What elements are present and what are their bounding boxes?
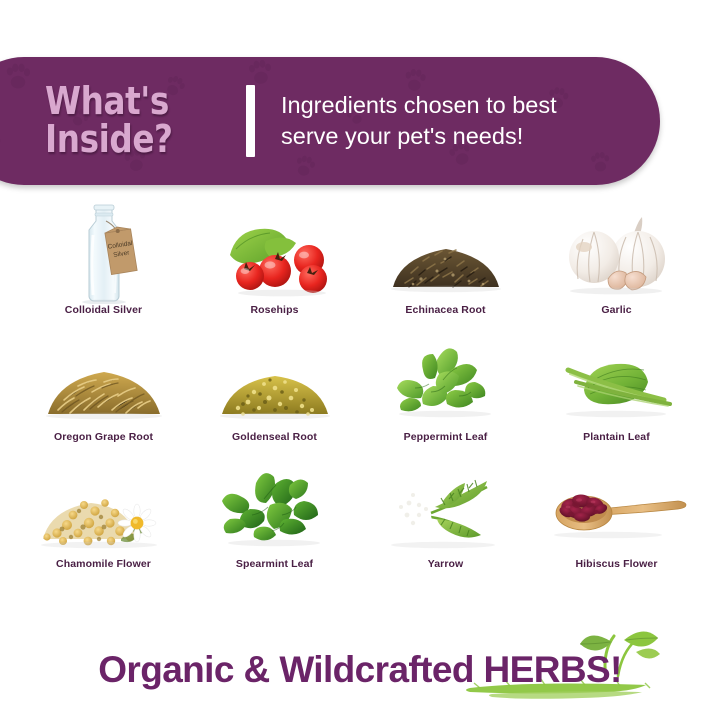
ingredient-item-garlic: Garlic [531,196,702,323]
ingredient-label: Spearmint Leaf [236,558,313,570]
ingredient-label: Echinacea Root [405,304,485,316]
rosehips-icon [189,203,360,304]
ingredient-item-yarrow: Yarrow [360,450,531,577]
ingredient-label: Oregon Grape Root [54,431,153,443]
ingredient-label: Garlic [601,304,631,316]
footer-logo: Organic & Wildcrafted HERBS! [0,626,720,712]
garlic-bulbs-icon [531,203,702,304]
ingredient-label: Peppermint Leaf [404,431,488,443]
infographic-page: What's Inside? Ingredients chosen to bes… [0,0,720,720]
ingredient-label: Rosehips [250,304,298,316]
ingredient-item-hibiscus-flower: Hibiscus Flower [531,450,702,577]
header-banner: What's Inside? Ingredients chosen to bes… [0,57,660,185]
ingredient-item-chamomile-flower: Chamomile Flower [18,450,189,577]
ingredient-item-oregon-grape-root: Oregon Grape Root [18,323,189,450]
ingredient-label: Yarrow [428,558,464,570]
ingredient-label: Hibiscus Flower [575,558,657,570]
banner-heading-line1: What's [45,83,213,121]
ingredient-label: Chamomile Flower [56,558,151,570]
banner-heading-line2: Inside? [45,121,213,159]
spearmint-bunch-icon [189,457,360,558]
banner-tagline: Ingredients chosen to best serve your pe… [281,90,557,152]
banner-tagline-line1: Ingredients chosen to best [281,90,557,121]
ingredient-item-rosehips: Rosehips [189,196,360,323]
yarrow-flower-icon [360,457,531,558]
banner-divider [246,85,255,157]
oregon-grape-root-pile-icon [18,330,189,431]
footer-text: Organic & Wildcrafted HERBS! [98,649,622,690]
colloidal-silver-bottle-icon: Colloidal Silver [18,203,189,304]
ingredient-label: Colloidal Silver [65,304,142,316]
banner-tagline-line2: serve your pet's needs! [281,121,557,152]
ingredient-item-spearmint-leaf: Spearmint Leaf [189,450,360,577]
ingredient-item-echinacea-root: Echinacea Root [360,196,531,323]
goldenseal-root-pile-icon [189,330,360,431]
ingredient-label: Goldenseal Root [232,431,317,443]
ingredient-item-peppermint-leaf: Peppermint Leaf [360,323,531,450]
hibiscus-spoon-icon [531,457,702,558]
peppermint-sprig-icon [360,330,531,431]
echinacea-root-pile-icon [360,203,531,304]
ingredient-item-plantain-leaf: Plantain Leaf [531,323,702,450]
banner-heading: What's Inside? [45,83,213,158]
organic-wildcrafted-herbs-logo: Organic & Wildcrafted HERBS! [40,626,680,712]
ingredient-label: Plantain Leaf [583,431,650,443]
chamomile-flowers-icon [18,457,189,558]
ingredient-item-colloidal-silver: Colloidal Silver Colloidal Silver [18,196,189,323]
plantain-leaf-icon [531,330,702,431]
ingredient-grid: Colloidal Silver Colloidal Silver [18,196,702,577]
ingredient-item-goldenseal-root: Goldenseal Root [189,323,360,450]
